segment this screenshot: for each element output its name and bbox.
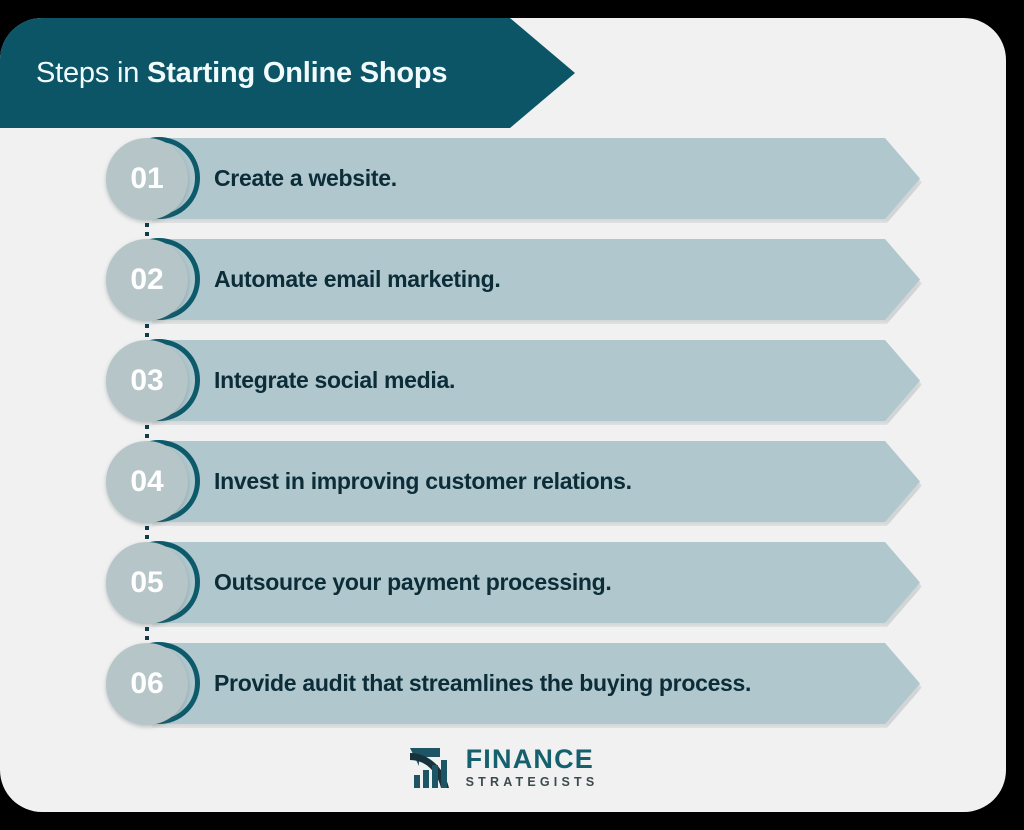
step-number: 01 — [130, 162, 163, 196]
step-number: 03 — [130, 364, 163, 398]
page-title-bold: Starting Online Shops — [147, 57, 447, 89]
step-row[interactable]: Outsource your payment processing.05 — [0, 532, 1006, 633]
step-number-badge: 03 — [106, 340, 188, 422]
step-number-badge: 04 — [106, 441, 188, 523]
step-number: 04 — [130, 465, 163, 499]
content-card: Steps in Starting Online Shops Create a … — [0, 18, 1006, 812]
steps-list: Create a website.01Automate email market… — [0, 128, 1006, 748]
connector-dot — [145, 627, 149, 631]
page-title-plain: Steps in — [36, 57, 147, 89]
step-row[interactable]: Provide audit that streamlines the buyin… — [0, 633, 1006, 734]
footer-logo: FINANCE STRATEGISTS — [0, 744, 1006, 790]
logo-secondary-text: STRATEGISTS — [466, 776, 599, 789]
page-title: Steps in Starting Online Shops — [0, 57, 447, 90]
step-label: Create a website. — [214, 138, 397, 219]
step-row[interactable]: Integrate social media.03 — [0, 330, 1006, 431]
infographic-root: Steps in Starting Online Shops Create a … — [0, 0, 1024, 830]
step-row[interactable]: Invest in improving customer relations.0… — [0, 431, 1006, 532]
step-marker: 02 — [106, 239, 202, 321]
logo-wordmark: FINANCE STRATEGISTS — [466, 746, 599, 789]
step-row[interactable]: Create a website.01 — [0, 128, 1006, 229]
step-label: Provide audit that streamlines the buyin… — [214, 643, 751, 724]
step-row[interactable]: Automate email marketing.02 — [0, 229, 1006, 330]
step-marker: 01 — [106, 138, 202, 220]
step-number-badge: 01 — [106, 138, 188, 220]
step-label: Invest in improving customer relations. — [214, 441, 632, 522]
step-marker: 05 — [106, 542, 202, 624]
step-label: Integrate social media. — [214, 340, 455, 421]
header-banner: Steps in Starting Online Shops — [0, 18, 575, 128]
step-marker: 04 — [106, 441, 202, 523]
connector-dot — [145, 223, 149, 227]
step-number-badge: 06 — [106, 643, 188, 725]
step-marker: 03 — [106, 340, 202, 422]
bar-chart-arrow-icon — [408, 744, 455, 790]
step-number: 06 — [130, 667, 163, 701]
logo-primary-text: FINANCE — [466, 746, 599, 773]
step-number-badge: 05 — [106, 542, 188, 624]
connector-dot — [145, 324, 149, 328]
step-marker: 06 — [106, 643, 202, 725]
step-number: 05 — [130, 566, 163, 600]
step-number-badge: 02 — [106, 239, 188, 321]
step-label: Automate email marketing. — [214, 239, 500, 320]
connector-dot — [145, 425, 149, 429]
step-number: 02 — [130, 263, 163, 297]
step-label: Outsource your payment processing. — [214, 542, 612, 623]
connector-dot — [145, 526, 149, 530]
